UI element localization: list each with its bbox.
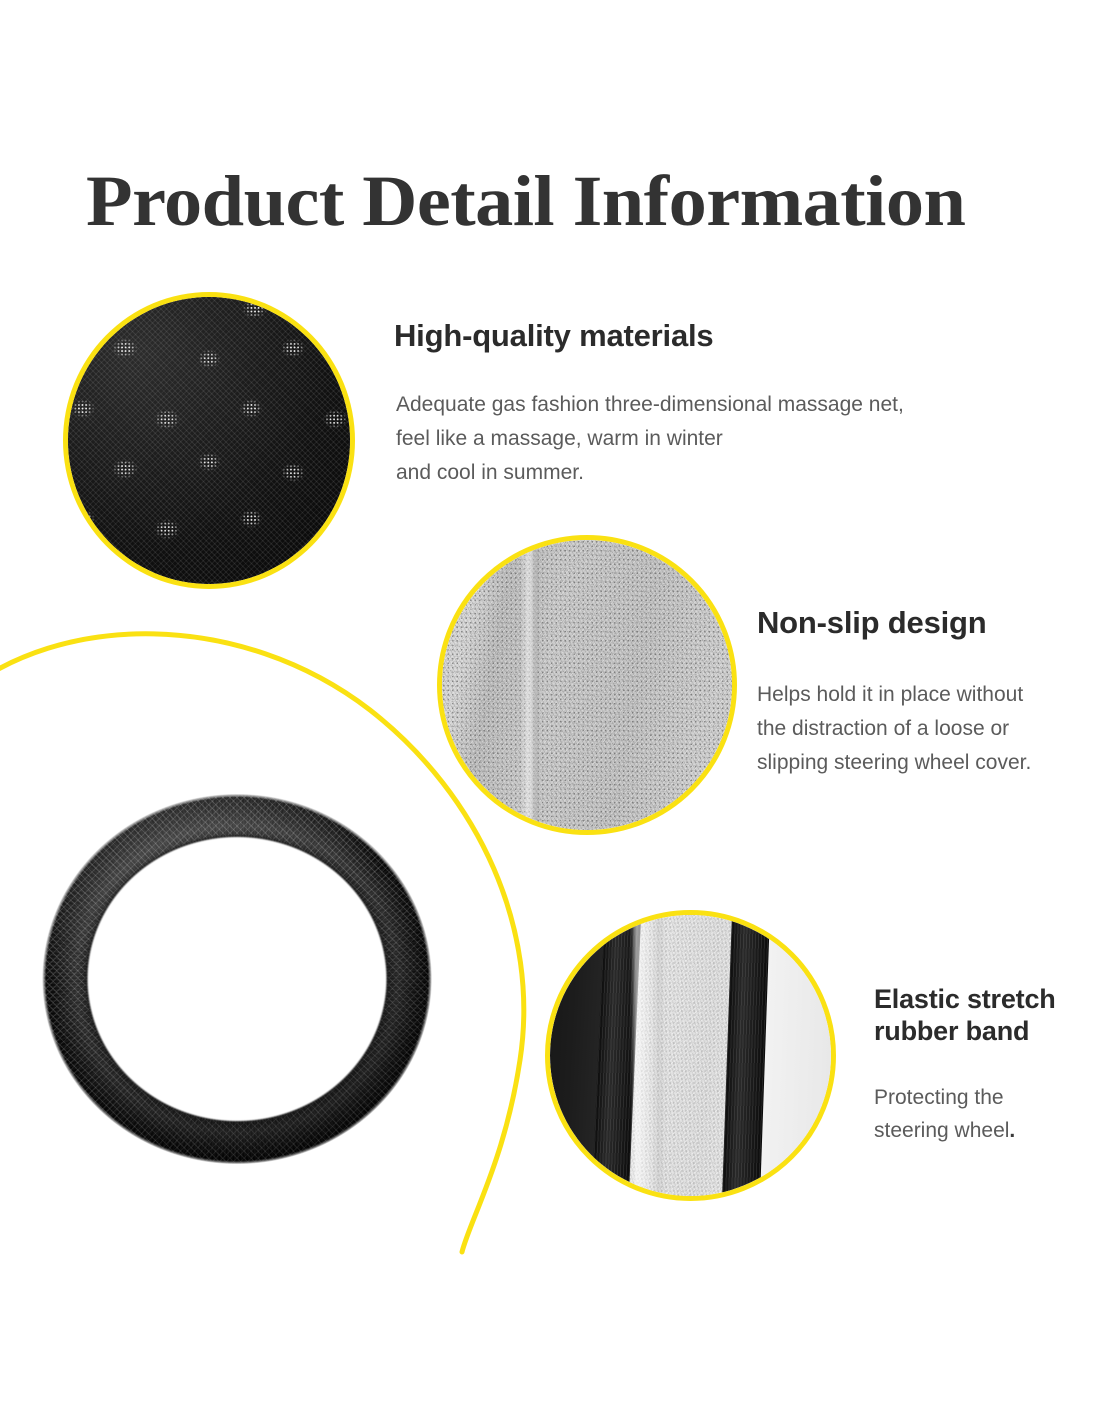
feature-image-high-quality-materials [63, 292, 355, 589]
band-fold-highlight [634, 915, 662, 1196]
feature-body-elastic-stretch-rubber-band: Protecting thesteering wheel. [874, 1081, 1084, 1147]
feature-heading-non-slip-design: Non-slip design [757, 604, 987, 642]
feature-image-elastic-stretch-rubber-band [545, 910, 836, 1201]
felt-fiber-layer [442, 540, 732, 830]
product-detail-infographic: Product Detail Information [0, 0, 1100, 1422]
feature-image-non-slip-design [437, 535, 737, 835]
feature-body-line2: steering wheel [874, 1119, 1009, 1142]
feature-heading-elastic-stretch-rubber-band: Elastic stretch rubber band [874, 983, 1089, 1047]
felt-photo [442, 540, 732, 830]
wheel-shading [36, 788, 438, 1170]
feature-body-high-quality-materials: Adequate gas fashion three-dimensional m… [396, 388, 1056, 490]
page-title: Product Detail Information [86, 163, 1100, 239]
band-right-panel [757, 915, 831, 1196]
mesh-photo [68, 297, 350, 584]
felt-seam-highlight [520, 540, 540, 830]
feature-body-line1: Protecting the [874, 1086, 1004, 1109]
feature-heading-high-quality-materials: High-quality materials [394, 317, 713, 355]
feature-body-period: . [1009, 1119, 1015, 1142]
elastic-band-photo [550, 915, 831, 1196]
steering-wheel-cover-photo [36, 788, 438, 1170]
mesh-highlight-dots [68, 297, 350, 584]
feature-body-non-slip-design: Helps hold it in place without the distr… [757, 678, 1100, 780]
